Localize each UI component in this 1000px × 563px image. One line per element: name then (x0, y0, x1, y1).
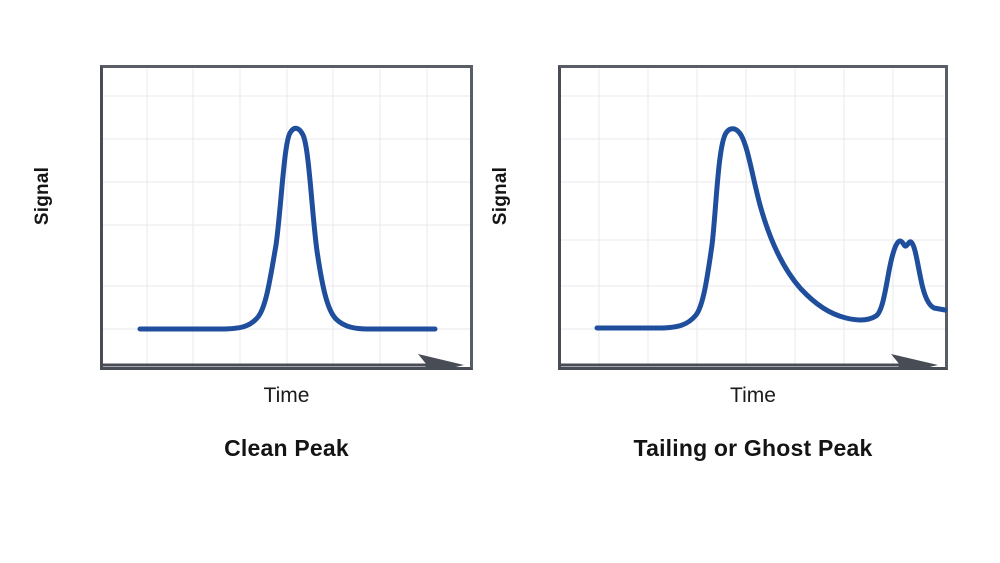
plot-area-clean-peak (100, 65, 473, 370)
x-axis-arrow-tailing-ghost-peak (561, 354, 938, 370)
figure-canvas: Signal Time Clean Peak (0, 0, 1000, 563)
horizontal-gridlines (561, 96, 945, 329)
chart-svg-clean-peak (100, 65, 473, 370)
caption-tailing-ghost-peak: Tailing or Ghost Peak (558, 435, 948, 462)
y-axis-label-tailing-ghost-peak: Signal (490, 151, 512, 241)
x-axis-arrow-clean-peak (103, 354, 464, 370)
x-axis-label-tailing-ghost-peak: Time (558, 384, 948, 408)
plot-area-tailing-ghost-peak (558, 65, 948, 370)
chart-svg-tailing-ghost-peak (558, 65, 948, 370)
y-axis-label-clean-peak: Signal (32, 151, 54, 241)
vertical-gridlines (147, 69, 427, 366)
caption-clean-peak: Clean Peak (100, 435, 473, 462)
panel-tailing-ghost-peak: Signal (520, 0, 1000, 563)
vertical-gridlines (599, 69, 893, 366)
panel-clean-peak: Signal (0, 0, 520, 563)
x-axis-label-clean-peak: Time (100, 384, 473, 408)
